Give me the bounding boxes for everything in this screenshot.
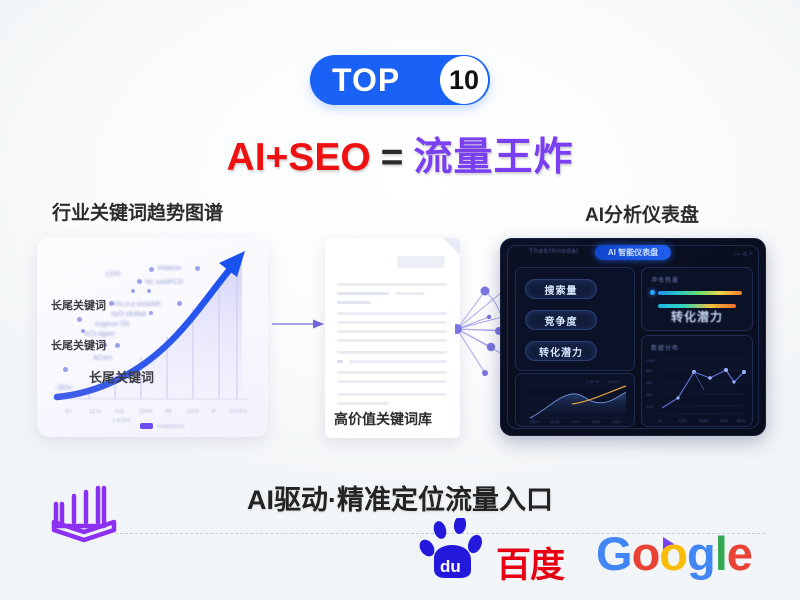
headline: AI+SEO=流量王炸: [0, 126, 800, 182]
metric-pill-search-volume[interactable]: 搜索量: [525, 279, 597, 299]
line-chart-ytick: 1000: [646, 358, 655, 363]
google-wordmark: Google: [596, 526, 752, 581]
blur-yaxis-bottom: -35%: [55, 385, 71, 392]
line-chart-xtick: 1300: [678, 418, 687, 423]
line-chart-ytick: 400: [646, 392, 653, 397]
axis-tick: 51%: [187, 409, 199, 415]
mini-chart-legend: 1.00 %: [586, 379, 598, 384]
distribution-line-chart: [642, 350, 752, 426]
scatter-dot: [63, 367, 68, 372]
gauge-bar-primary: [658, 291, 742, 295]
blur-term: Nc siadPCD: [145, 279, 183, 286]
google-letter-e: e: [727, 527, 752, 580]
axis-note: (-62fm: [113, 418, 130, 424]
blur-term: ACtvn: [93, 355, 112, 362]
google-letter-o1: o: [632, 527, 660, 580]
headline-equals: =: [381, 136, 404, 179]
scatter-dot: [115, 343, 120, 348]
axis-tick: 2024%: [229, 409, 248, 415]
line-chart-ytick: 200: [646, 404, 653, 409]
top-rank-badge: TOP 10: [310, 55, 490, 105]
mini-chart-xtick: 14.07: [571, 419, 581, 424]
gauge-dot: [650, 290, 655, 295]
scatter-dot: [149, 311, 153, 315]
page-fold-corner: [443, 238, 460, 255]
scatter-dot: [149, 267, 154, 272]
baidu-wordmark: 百度: [496, 537, 564, 588]
scatter-dot: [109, 301, 114, 306]
axis-tick: 4f: [211, 409, 216, 415]
headline-left: AI+SEO: [227, 136, 371, 179]
axis-tick: 4b: [165, 409, 172, 415]
blur-yaxis-top: 1200: [105, 271, 121, 278]
line-chart-ytick: 800: [646, 368, 653, 373]
blur-term: Vtu,o,ij snoofiih: [113, 301, 160, 308]
scatter-dot: [81, 329, 85, 333]
rank-number-circle: 10: [440, 56, 488, 104]
left-section-caption: 行业关键词趋势图谱: [52, 198, 223, 225]
line-chart-xtick: 6570: [737, 418, 746, 423]
flow-arrow-1: [272, 318, 324, 330]
blur-term: oyO iduflae: [111, 311, 146, 318]
ai-dashboard-card: AI 智能仪表盘 Thebthnodal — o × 搜索量 竞争度 转化潜力: [500, 238, 766, 436]
right-section-caption: AI分析仪表盘: [585, 200, 699, 227]
top-label: TOP: [332, 62, 400, 99]
axis-tick: 11%: [89, 409, 101, 415]
scatter-dot: [131, 289, 135, 293]
gauge-overlay-label: 转化潜力: [671, 308, 723, 325]
google-letter-g2: g: [687, 527, 715, 580]
headline-right: 流量王炸: [413, 136, 573, 179]
line-chart-xtick: 1300: [719, 418, 728, 423]
axis-tick: 1844: [139, 409, 152, 415]
scatter-dot: [195, 266, 200, 271]
distribution-panel: 数据分布 1000 800 600 400 200 60: [641, 335, 753, 427]
scatter-dot: [137, 279, 142, 284]
mini-area-chart-panel: 1.00 % 0.00% 7月14 11.06 14.07 8mp 2024: [515, 373, 635, 427]
metric-pill-competition[interactable]: 竞争度: [525, 310, 597, 330]
rank-number: 10: [449, 65, 479, 96]
line-chart-xtick: 8060: [699, 418, 708, 423]
legend-label: volabooris: [157, 424, 184, 430]
mini-chart-xtick: 8mp: [592, 419, 600, 424]
google-letter-o2: o: [659, 527, 687, 580]
mini-chart-xtick: 7月14: [529, 419, 540, 425]
axis-tick: 40: [65, 409, 72, 415]
keyword-label: 长尾关键词: [51, 297, 106, 313]
gauge-panel: 冲击热度 转化潜力: [641, 267, 753, 331]
google-letter-l: l: [715, 527, 727, 580]
scatter-dot: [177, 301, 182, 306]
line-chart-ytick: 600: [646, 380, 653, 385]
bar-chart-icon: [44, 482, 124, 546]
gauge-panel-title: 冲击热度: [651, 275, 679, 284]
keyword-library-document: 高价值关键词库: [325, 238, 460, 438]
mini-chart-legend: 0.00%: [608, 379, 619, 384]
axis-tick: 02L: [115, 409, 125, 415]
search-engine-logos: du 百度 Google: [418, 518, 770, 584]
legend-swatch: [140, 423, 153, 429]
dashboard-corner-label: Thebthnodal: [529, 248, 579, 255]
line-chart-xtick: 60: [658, 418, 662, 423]
metric-pill-conversion[interactable]: 转化潜力: [525, 341, 597, 361]
doc-heading-block: [397, 256, 445, 268]
scatter-dot: [77, 317, 82, 322]
infographic-canvas: TOP 10 AI+SEO=流量王炸 行业关键词趋势图谱 AI分析仪表盘: [0, 0, 800, 600]
google-letter-g1: G: [596, 527, 632, 580]
dashboard-title-badge: AI 智能仪表盘: [595, 245, 671, 260]
mini-chart-xtick: 11.06: [550, 419, 560, 424]
window-controls: — o ×: [734, 251, 753, 258]
baidu-mark-text: du: [440, 557, 461, 576]
keyword-label: 长尾关键词: [51, 337, 106, 353]
blur-term: ougouo Oh: [95, 321, 130, 328]
blur-term: Volatoin: [157, 265, 182, 272]
center-section-caption: 高价值关键词库: [334, 409, 432, 429]
keyword-label: 长尾关键词: [89, 367, 154, 386]
scatter-dot: [147, 289, 151, 293]
keyword-trend-card: Volatoin Nc siadPCD Vtu,o,ij snoofiih oy…: [37, 237, 268, 437]
mini-chart-xtick: 2024: [612, 419, 621, 424]
